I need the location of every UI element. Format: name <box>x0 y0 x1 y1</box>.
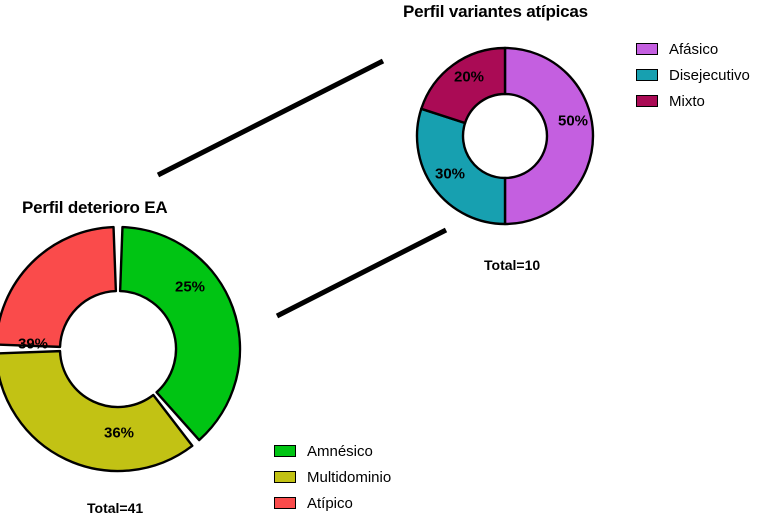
percent-label-perfil-variantes-atipicas-50: 50% <box>558 113 588 130</box>
legend-atipicas-swatch-afsico <box>636 43 658 55</box>
legend-variantes-atipicas: AfásicoDisejecutivoMixto <box>636 36 750 114</box>
percent-label-perfil-variantes-atipicas-30: 30% <box>435 166 465 183</box>
atipicas-slice-afsico <box>505 48 593 224</box>
legend-deterioro-item[interactable]: Multidominio <box>274 464 391 490</box>
legend-atipicas-item[interactable]: Mixto <box>636 88 750 114</box>
legend-deterioro-label: Multidominio <box>307 469 391 486</box>
figure-root: Perfil variantes atípicas Perfil deterio… <box>0 0 757 522</box>
legend-atipicas-label: Disejecutivo <box>669 67 750 84</box>
percent-label-perfil-deterioro-ea-39: 39% <box>18 336 48 353</box>
deterioro-slice-multidominio <box>0 351 192 471</box>
donut-chart-variantes-atipicas <box>417 48 593 224</box>
legend-deterioro-swatch-atpico <box>274 497 296 509</box>
legend-deterioro-swatch-multidominio <box>274 471 296 483</box>
legend-deterioro-label: Atípico <box>307 495 353 512</box>
atipicas-slice-mixto <box>421 48 505 123</box>
connector-lower <box>277 230 446 316</box>
legend-atipicas-swatch-disejecutivo <box>636 69 658 81</box>
chart-title-variantes-atipicas: Perfil variantes atípicas <box>403 2 588 22</box>
legend-atipicas-label: Afásico <box>669 41 718 58</box>
total-label-deterioro-ea: Total=41 <box>87 500 143 516</box>
connector-upper <box>158 61 383 175</box>
legend-atipicas-label: Mixto <box>669 93 705 110</box>
legend-deterioro-label: Amnésico <box>307 443 373 460</box>
total-label-variantes-atipicas: Total=10 <box>484 257 540 273</box>
percent-label-perfil-deterioro-ea-36: 36% <box>104 425 134 442</box>
percent-label-perfil-deterioro-ea-25: 25% <box>175 279 205 296</box>
legend-deterioro-item[interactable]: Atípico <box>274 490 391 516</box>
deterioro-slice-atpico <box>0 227 116 347</box>
percent-label-perfil-variantes-atipicas-20: 20% <box>454 69 484 86</box>
legend-atipicas-item[interactable]: Disejecutivo <box>636 62 750 88</box>
legend-deterioro-swatch-amnsico <box>274 445 296 457</box>
legend-deterioro-item[interactable]: Amnésico <box>274 438 391 464</box>
legend-atipicas-item[interactable]: Afásico <box>636 36 750 62</box>
chart-title-deterioro-ea: Perfil deterioro EA <box>22 198 167 218</box>
legend-atipicas-swatch-mixto <box>636 95 658 107</box>
legend-deterioro-ea: AmnésicoMultidominioAtípico <box>274 438 391 516</box>
